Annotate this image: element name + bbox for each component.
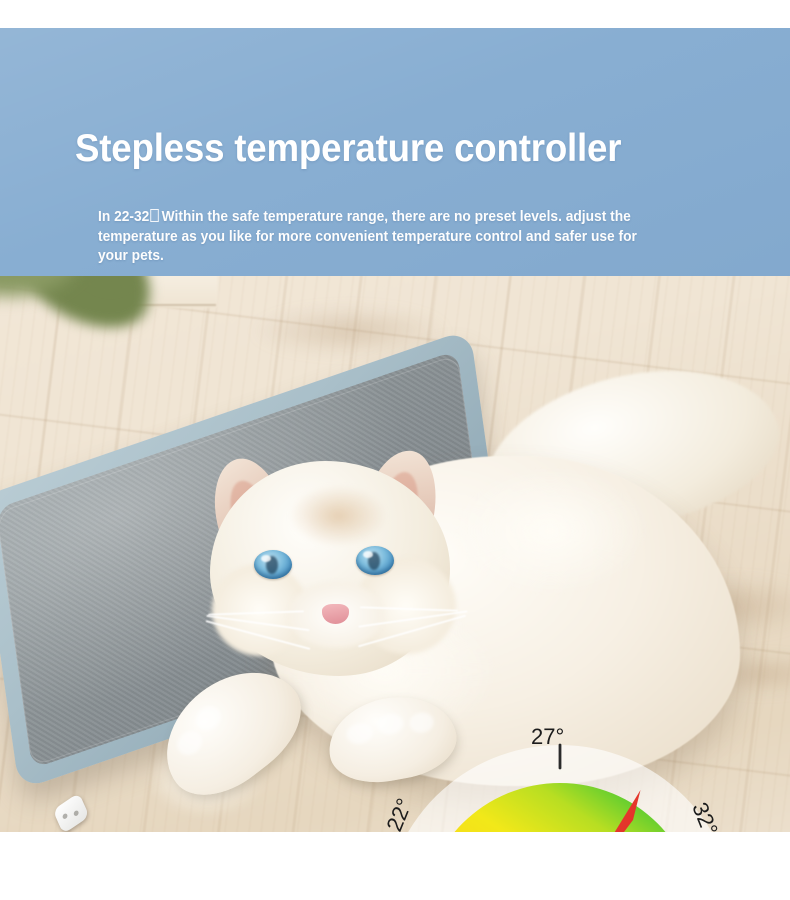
product-photo: 27° 22° 32°	[0, 276, 790, 832]
cat-eye-glint	[261, 555, 271, 562]
cat-eye-right	[356, 546, 394, 575]
power-connector	[53, 793, 90, 832]
temperature-gauge: 27° 22° 32°	[385, 716, 745, 832]
cat-forehead-marking	[290, 486, 386, 546]
page-subtitle: In 22-32Within the safe temperature rang…	[98, 208, 668, 267]
top-white-margin	[0, 0, 790, 28]
cat-eye-glint	[363, 551, 373, 558]
missing-glyph-box	[150, 209, 159, 222]
cat-shoulder-fluff	[450, 466, 650, 596]
page-title: Stepless temperature controller	[75, 126, 695, 172]
subtitle-body-text: Within the safe temperature range, there…	[98, 209, 637, 264]
product-marketing-image: Stepless temperature controller In 22-32…	[0, 0, 790, 900]
subtitle-range-text: In 22-32	[98, 209, 149, 225]
cat-eye-left	[254, 550, 292, 579]
header-banner: Stepless temperature controller In 22-32…	[0, 28, 790, 276]
gauge-label-mid: 27°	[531, 724, 564, 750]
bottom-white-margin	[0, 832, 790, 900]
